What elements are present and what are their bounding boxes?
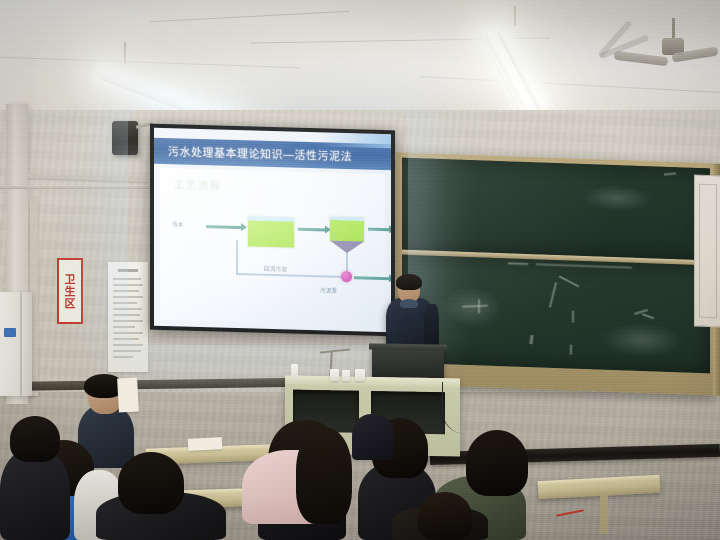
arrow-influent [206, 225, 242, 229]
fluorescent-tube-left [96, 42, 266, 112]
wall-cabinet [0, 292, 32, 396]
wall-speaker [112, 121, 138, 155]
hygiene-area-sign: 卫 生 区 [57, 258, 83, 324]
hygiene-sign-char-1: 卫 [65, 274, 76, 285]
arrow-excess-sludge [354, 276, 390, 280]
slide-subtitle: 工艺流程 [174, 176, 222, 192]
blackboard-upper-panel [402, 158, 710, 261]
return-line-vert [236, 240, 238, 274]
notice-board [108, 262, 148, 372]
desk-cup-3 [355, 369, 365, 381]
clarifier-sludge-cone [330, 241, 364, 254]
arrow-effluent [368, 228, 390, 232]
slide-title: 污水处理基本理论知识—活性污泥法 [154, 143, 352, 165]
classroom-photo: 卫 生 区 [0, 0, 720, 540]
projection-screen: 污水处理基本理论知识—活性污泥法 工艺流程 污水 [150, 124, 395, 337]
slide-title-band: 污水处理基本理论知识—活性污泥法 [154, 138, 391, 171]
desk-bottle [291, 364, 298, 381]
return-sludge-label: 回流污泥 [264, 265, 287, 274]
fluorescent-tube-right [478, 6, 618, 116]
arrow-mixed-liquor [298, 228, 326, 232]
cabinet-label [4, 328, 16, 337]
hygiene-sign-char-2: 生 [65, 286, 76, 297]
secondary-clarifier [330, 217, 364, 242]
presenter-hair [396, 274, 422, 290]
wall-poster-right [694, 175, 720, 328]
desk-cup-2 [342, 370, 350, 381]
desk-cup-1 [330, 369, 339, 381]
sludge-pump [341, 271, 352, 282]
presenter-collar [400, 299, 418, 308]
hygiene-sign-char-3: 区 [65, 298, 76, 309]
ceiling-fan [628, 18, 714, 82]
blackboard [396, 152, 716, 395]
influent-label: 污水 [172, 220, 184, 228]
slide-body: 工艺流程 污水 出水 [160, 168, 385, 326]
slide-surface: 污水处理基本理论知识—活性污泥法 工艺流程 污水 [154, 128, 391, 333]
aeration-tank [248, 216, 294, 247]
desk-leg-right [600, 494, 608, 534]
process-flow-diagram: 污水 出水 回流污泥 [160, 202, 385, 308]
back-wall-paper [117, 377, 139, 412]
blackboard-lower-panel [402, 255, 710, 374]
sludge-pump-label: 污泥泵 [320, 286, 337, 294]
notebook-paper [188, 437, 223, 451]
return-line-horiz [236, 273, 346, 278]
wall-trim [0, 186, 160, 189]
